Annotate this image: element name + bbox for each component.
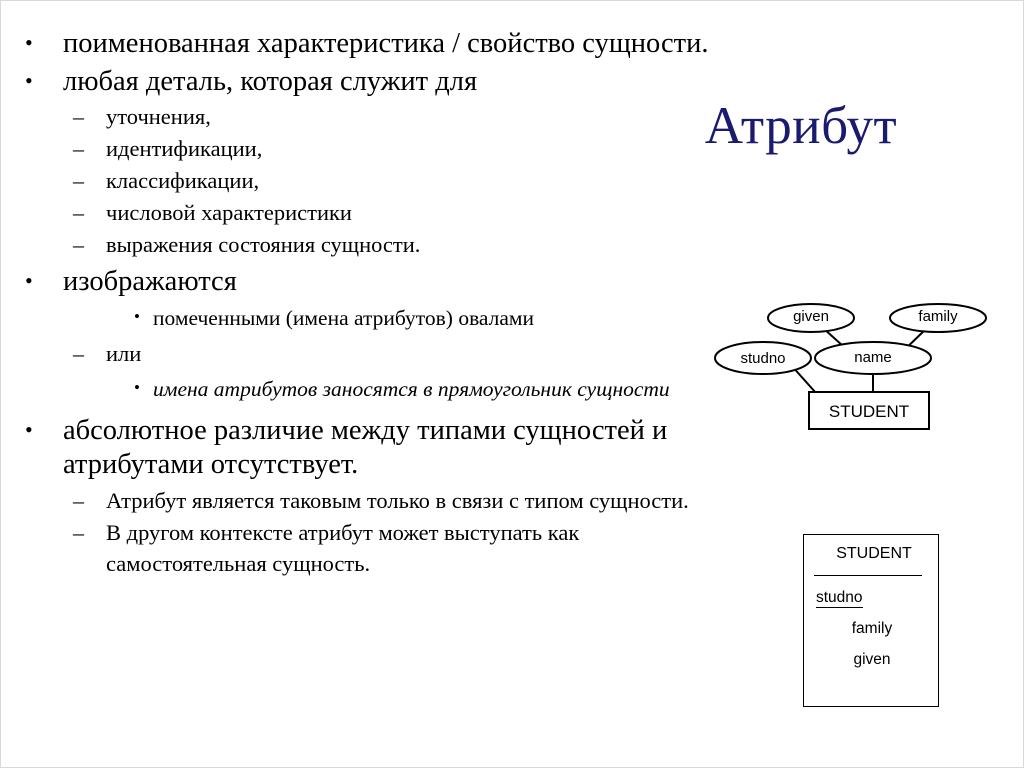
bullet-item-level1: •любая деталь, которая служит для [1, 65, 801, 99]
bullet-marker-icon: – [73, 338, 84, 369]
bullet-text: В другом контексте атрибут может выступа… [106, 517, 731, 581]
bullet-text: идентификации, [106, 133, 731, 165]
bullet-marker-icon: – [73, 165, 84, 196]
bullet-item-level2: –идентификации, [1, 133, 801, 165]
entity-attribute-given: given [804, 651, 938, 669]
oval-label-given: given [793, 308, 829, 325]
bullet-item-level2: –Атрибут является таковым только в связи… [1, 485, 801, 517]
bullet-item-level1: •изображаются [1, 265, 801, 299]
bullet-text: абсолютное различие между типами сущност… [63, 414, 785, 482]
bullet-marker-icon: • [25, 265, 33, 297]
er-entity-label: STUDENT [829, 402, 909, 421]
bullet-marker-icon: – [73, 133, 84, 164]
entity-attribute-studno-label: studno [816, 589, 863, 608]
bullet-marker-icon: • [25, 414, 33, 446]
bullet-item-level1: •поименованная характеристика / свойство… [1, 27, 801, 61]
bullet-item-level2: –уточнения, [1, 101, 801, 133]
bullet-text: имена атрибутов заносятся в прямоугольни… [153, 374, 721, 405]
bullet-text: уточнения, [106, 101, 731, 133]
bullet-marker-icon: – [73, 197, 84, 228]
bullet-item-level2: –выражения состояния сущности. [1, 229, 801, 261]
bullet-text: классификации, [106, 165, 731, 197]
bullet-list: •поименованная характеристика / свойство… [1, 27, 801, 580]
bullet-marker-icon: • [134, 374, 140, 401]
entity-box-title: STUDENT [804, 545, 938, 563]
bullet-marker-icon: • [25, 65, 33, 97]
bullet-item-level2: –В другом контексте атрибут может выступ… [1, 517, 801, 581]
bullet-marker-icon: – [73, 485, 84, 516]
bullet-text: выражения состояния сущности. [106, 229, 731, 261]
bullet-text: любая деталь, которая служит для [63, 65, 761, 99]
entity-attribute-family: family [804, 620, 938, 638]
entity-box-separator [814, 575, 922, 576]
slide: Атрибут •поименованная характеристика / … [0, 0, 1024, 768]
er-diagram-ovals: given family name studno STUDENT [701, 293, 1021, 443]
bullet-marker-icon: – [73, 101, 84, 132]
bullet-text: или [106, 338, 731, 370]
bullet-item-level2: –классификации, [1, 165, 801, 197]
bullet-text: Атрибут является таковым только в связи … [106, 485, 731, 517]
bullet-item-level2: –или [1, 338, 801, 370]
oval-label-name: name [854, 349, 892, 366]
bullet-text: помеченными (имена атрибутов) овалами [153, 303, 721, 334]
bullet-item-level3: •помеченными (имена атрибутов) овалами [1, 303, 801, 334]
entity-attribute-studno: studno [804, 589, 938, 607]
bullet-marker-icon: – [73, 229, 84, 260]
bullet-item-level1: •абсолютное различие между типами сущнос… [1, 414, 801, 482]
entity-attribute-box: STUDENT studno family given [803, 534, 939, 707]
bullet-text: поименованная характеристика / свойство … [63, 27, 761, 61]
oval-label-family: family [918, 308, 958, 325]
oval-label-studno: studno [740, 350, 785, 367]
bullet-text: числовой характеристики [106, 197, 731, 229]
bullet-item-level3: •имена атрибутов заносятся в прямоугольн… [1, 374, 801, 405]
bullet-marker-icon: – [73, 517, 84, 548]
bullet-marker-icon: • [134, 303, 140, 330]
bullet-marker-icon: • [25, 27, 33, 59]
bullet-item-level2: –числовой характеристики [1, 197, 801, 229]
bullet-text: изображаются [63, 265, 761, 299]
